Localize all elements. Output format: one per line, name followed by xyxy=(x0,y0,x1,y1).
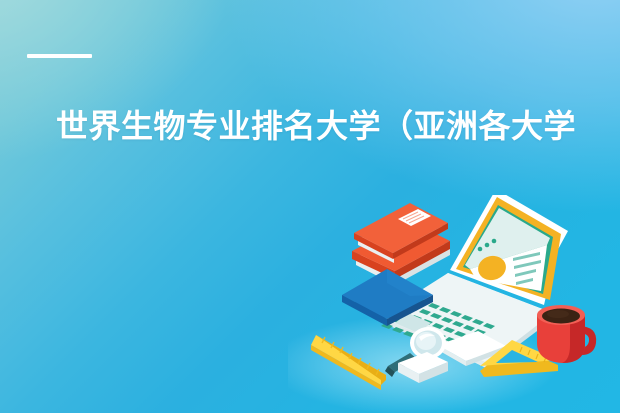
coffee-mug-icon xyxy=(537,305,596,363)
promo-banner: 世界生物专业排名大学（亚洲各大学 xyxy=(0,0,620,413)
study-desk-illustration xyxy=(300,195,620,413)
page-title: 世界生物专业排名大学（亚洲各大学 xyxy=(56,104,620,148)
accent-rule xyxy=(27,54,92,58)
books-icon xyxy=(352,203,450,285)
ruler-icon xyxy=(311,335,386,390)
